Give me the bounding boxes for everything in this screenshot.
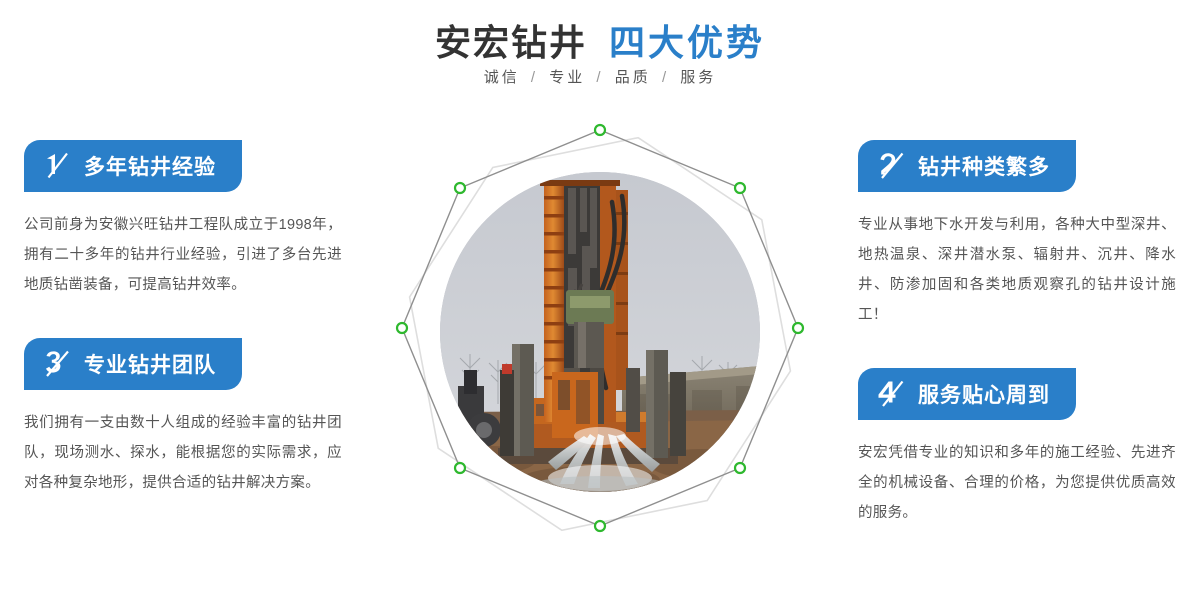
feature-title-4: 服务贴心周到	[918, 379, 1050, 409]
vertex-marker-8	[455, 183, 465, 193]
feature-card-1: 多年钻井经验 公司前身为安徽兴旺钻井工程队成立于1998年，拥有二十多年的钻井行…	[24, 140, 354, 300]
page-title-main: 安宏钻井	[435, 22, 587, 63]
feature-card-4: 服务贴心周到 安宏凭借专业的知识和多年的施工经验、先进齐全的机械设备、合理的价格…	[858, 368, 1188, 528]
drilling-rig-photo	[440, 172, 760, 492]
subtitle-item-4: 服务	[680, 69, 716, 86]
number-four-icon	[874, 377, 908, 411]
subtitle-separator-1: /	[531, 69, 538, 86]
features-column-right: 钻井种类繁多 专业从事地下水开发与利用，各种大中型深井、地热温泉、深井潜水泵、辐…	[858, 140, 1188, 528]
feature-body-4: 安宏凭借专业的知识和多年的施工经验、先进齐全的机械设备、合理的价格，为您提供优质…	[858, 438, 1176, 528]
feature-title-1: 多年钻井经验	[84, 151, 216, 181]
features-column-left: 多年钻井经验 公司前身为安徽兴旺钻井工程队成立于1998年，拥有二十多年的钻井行…	[24, 140, 354, 498]
subtitle-separator-3: /	[662, 69, 669, 86]
feature-card-2: 钻井种类繁多 专业从事地下水开发与利用，各种大中型深井、地热温泉、深井潜水泵、辐…	[858, 140, 1188, 330]
feature-body-2: 专业从事地下水开发与利用，各种大中型深井、地热温泉、深井潜水泵、辐射井、沉井、降…	[858, 210, 1176, 330]
subtitle-item-1: 诚信	[484, 69, 520, 86]
subtitle-separator-2: /	[596, 69, 603, 86]
vertex-marker-3	[793, 323, 803, 333]
feature-badge-4[interactable]: 服务贴心周到	[858, 368, 1076, 420]
page-title-accent: 四大优势	[609, 22, 765, 63]
feature-card-3: 专业钻井团队 我们拥有一支由数十人组成的经验丰富的钻井团队，现场测水、探水，能根…	[24, 338, 354, 498]
vertex-marker-4	[735, 463, 745, 473]
vertex-marker-2	[735, 183, 745, 193]
page-header: 安宏钻井四大优势 诚信 / 专业 / 品质 / 服务	[0, 0, 1200, 110]
vertex-marker-7	[397, 323, 407, 333]
feature-badge-3[interactable]: 专业钻井团队	[24, 338, 242, 390]
feature-title-2: 钻井种类繁多	[918, 151, 1050, 181]
page-title: 安宏钻井四大优势	[0, 14, 1200, 66]
feature-badge-2[interactable]: 钻井种类繁多	[858, 140, 1076, 192]
vertex-marker-6	[455, 463, 465, 473]
page-subtitle: 诚信 / 专业 / 品质 / 服务	[0, 66, 1200, 87]
number-one-icon	[40, 149, 74, 183]
feature-title-3: 专业钻井团队	[84, 349, 216, 379]
feature-badge-1[interactable]: 多年钻井经验	[24, 140, 242, 192]
vertex-marker-1	[595, 125, 605, 135]
subtitle-item-2: 专业	[549, 69, 585, 86]
number-three-icon	[40, 347, 74, 381]
subtitle-item-3: 品质	[615, 69, 651, 86]
number-two-icon	[874, 149, 908, 183]
vertex-marker-5	[595, 521, 605, 531]
feature-body-3: 我们拥有一支由数十人组成的经验丰富的钻井团队，现场测水、探水，能根据您的实际需求…	[24, 408, 342, 498]
feature-body-1: 公司前身为安徽兴旺钻井工程队成立于1998年，拥有二十多年的钻井行业经验，引进了…	[24, 210, 342, 300]
center-graphic	[378, 106, 822, 562]
